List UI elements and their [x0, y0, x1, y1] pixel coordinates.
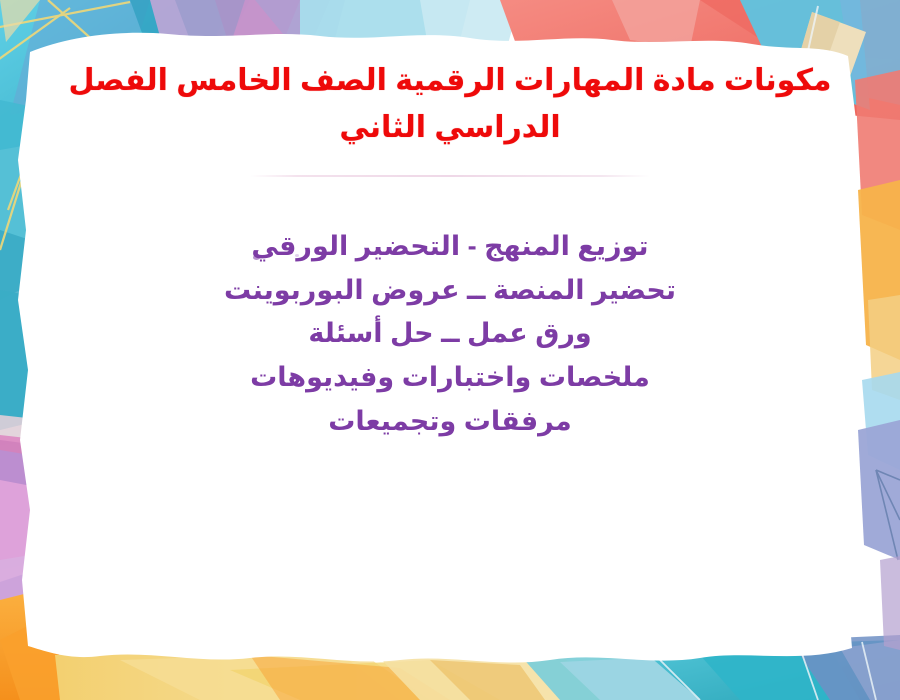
- page-title: مكونات مادة المهارات الرقمية الصف الخامس…: [60, 40, 840, 151]
- contents-line-5: مرفقات وتجميعات: [60, 400, 840, 444]
- slide-canvas: مكونات مادة المهارات الرقمية الصف الخامس…: [0, 0, 900, 700]
- title-line-1: مكونات مادة المهارات الرقمية الصف الخامس…: [60, 58, 840, 105]
- title-line-2: الدراسي الثاني: [60, 105, 840, 152]
- contents-list: توزيع المنهج - التحضير الورقي تحضير المن…: [60, 177, 840, 444]
- slide-content: مكونات مادة المهارات الرقمية الصف الخامس…: [60, 40, 840, 650]
- ink-speck-artifact-small: [295, 254, 299, 257]
- contents-line-4: ملخصات واختبارات وفيديوهات: [60, 356, 840, 400]
- contents-line-3: ورق عمل ــ حل أسئلة: [60, 312, 840, 356]
- contents-line-2: تحضير المنصة ــ عروض البوربوينت: [60, 269, 840, 313]
- contents-line-1: توزيع المنهج - التحضير الورقي: [60, 225, 840, 269]
- ink-speck-artifact: [253, 255, 260, 260]
